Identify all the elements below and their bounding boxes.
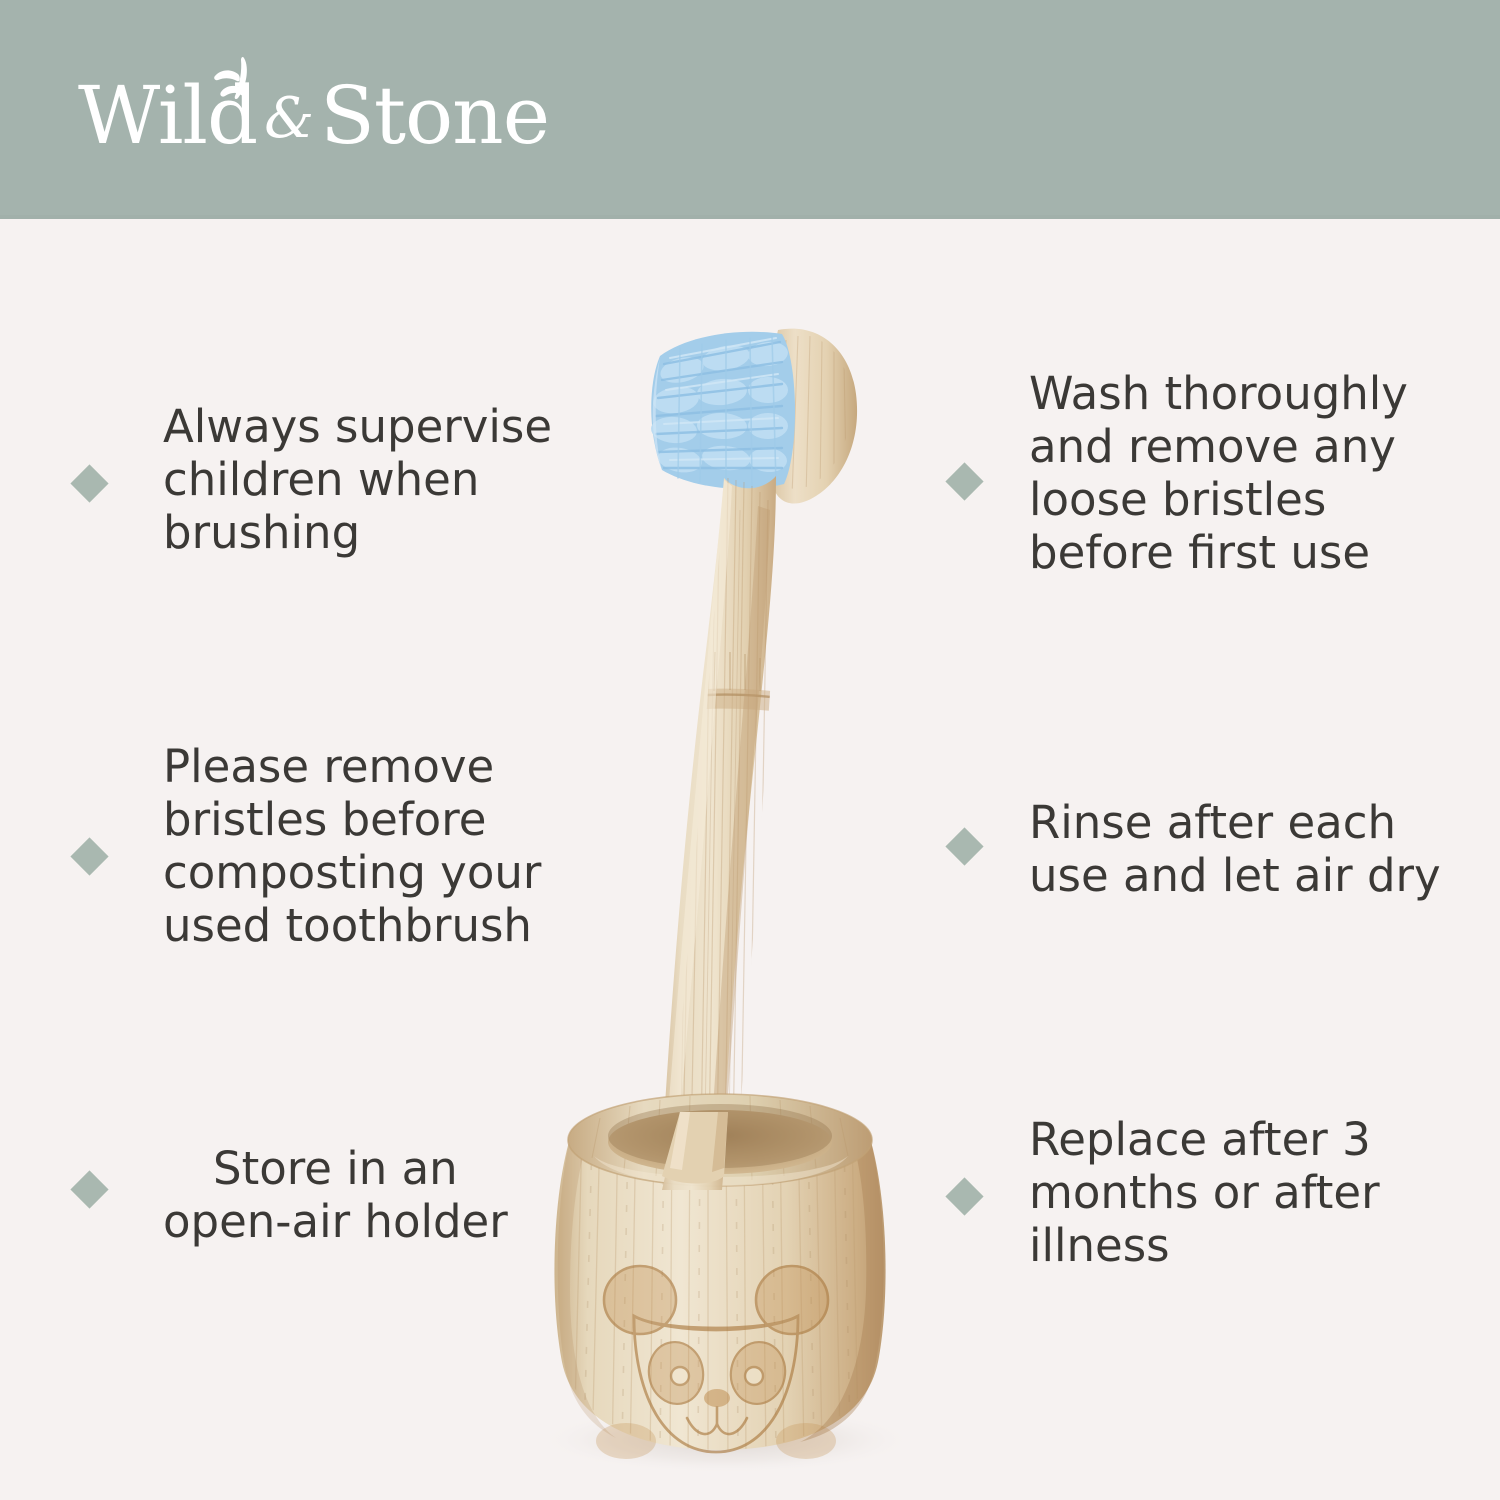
tip-line: loose bristles <box>1029 473 1408 526</box>
tip-line: used toothbrush <box>163 899 541 952</box>
tip-line: and remove any <box>1029 420 1408 473</box>
band-bottom-edge <box>0 215 1500 219</box>
brand-logo: Wild&Stone <box>78 62 618 182</box>
tip-line: Always supervise <box>163 400 552 453</box>
tip-line: Please remove <box>163 740 541 793</box>
tip-line: children when <box>163 453 552 506</box>
tip-line: use and let air dry <box>1029 849 1441 902</box>
tip-text-supervise-children: Always supervise children when brushing <box>163 400 552 559</box>
tip-line: Store in an <box>163 1142 508 1195</box>
diamond-bullet-icon <box>70 1170 108 1208</box>
tip-text-rinse-air-dry: Rinse after each use and let air dry <box>1029 796 1441 902</box>
tip-line: open-air holder <box>163 1195 508 1248</box>
tip-line: Replace after 3 <box>1029 1113 1380 1166</box>
tip-line: months or after <box>1029 1166 1380 1219</box>
diamond-bullet-icon <box>945 462 983 500</box>
tip-line: brushing <box>163 506 552 559</box>
brand-logo-text: Wild&Stone <box>78 76 549 156</box>
tip-text-replace-3-months: Replace after 3 months or after illness <box>1029 1113 1380 1272</box>
product-image-toothbrush-and-holder <box>530 300 950 1480</box>
tip-line: Rinse after each <box>1029 796 1441 849</box>
header-band: Wild&Stone <box>0 0 1500 219</box>
toothbrush-bristles <box>650 332 795 489</box>
diamond-bullet-icon <box>945 827 983 865</box>
tip-line: composting your <box>163 846 541 899</box>
tip-text-remove-bristles-composting: Please remove bristles before composting… <box>163 740 541 952</box>
tip-line: Wash thoroughly <box>1029 367 1408 420</box>
tip-line: bristles before <box>163 793 541 846</box>
tip-text-wash-before-first-use: Wash thoroughly and remove any loose bri… <box>1029 367 1408 579</box>
toothbrush-holder-illustration <box>530 300 950 1480</box>
diamond-bullet-icon <box>70 464 108 502</box>
tip-line: before first use <box>1029 526 1408 579</box>
product-infographic: Wild&Stone Always supervise children whe… <box>0 0 1500 1500</box>
brand-word-stone: Stone <box>320 69 549 162</box>
diamond-bullet-icon <box>70 837 108 875</box>
toothbrush-handle <box>650 476 780 1200</box>
tip-line: illness <box>1029 1219 1380 1272</box>
tip-text-store-open-air-holder: Store in an open-air holder <box>163 1142 508 1248</box>
diamond-bullet-icon <box>945 1177 983 1215</box>
leaf-sprig-icon <box>200 54 280 124</box>
